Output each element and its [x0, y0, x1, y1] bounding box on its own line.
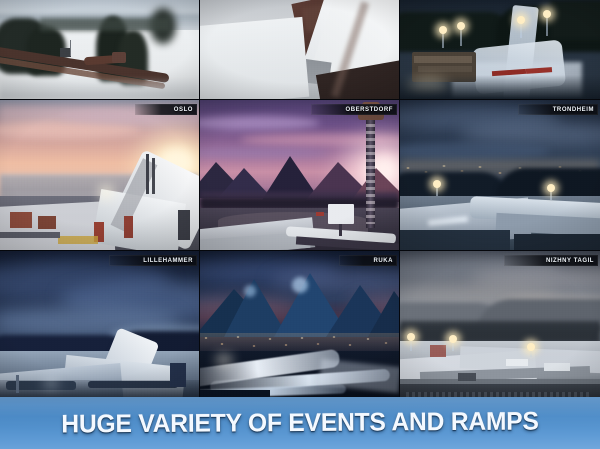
gallery-tile[interactable]	[400, 0, 600, 99]
promo-screenshot: OSLO	[0, 0, 600, 449]
tile-caption-label: RUKA	[373, 258, 393, 264]
tile-caption: NIZHNY TAGIL	[504, 255, 598, 266]
tile-caption-label: NIZHNY TAGIL	[546, 258, 594, 264]
tile-caption-label: OSLO	[174, 107, 193, 113]
tile-caption-label: TRONDHEIM	[553, 107, 594, 113]
tile-caption: OBERSTDORF	[311, 104, 397, 115]
gallery-tile[interactable]: OSLO	[0, 100, 199, 250]
tile-caption: OSLO	[135, 104, 197, 115]
gallery-tile[interactable]: RUKA	[200, 251, 399, 402]
gallery-tile[interactable]: OBERSTDORF	[200, 100, 399, 250]
tile-caption: LILLEHAMMER	[109, 255, 197, 266]
gallery-tile[interactable]: NIZHNY TAGIL	[400, 251, 600, 402]
gallery-tile[interactable]	[0, 0, 199, 99]
tile-caption-label: OBERSTDORF	[346, 107, 394, 113]
promo-banner: HUGE VARIETY OF EVENTS AND RAMPS	[0, 397, 600, 449]
tile-caption: RUKA	[339, 255, 397, 266]
tile-caption: TRONDHEIM	[518, 104, 598, 115]
promo-banner-text: HUGE VARIETY OF EVENTS AND RAMPS	[10, 397, 589, 449]
tile-caption-label: LILLEHAMMER	[143, 258, 193, 264]
gallery-tile[interactable]	[200, 0, 399, 99]
gallery-tile[interactable]: LILLEHAMMER	[0, 251, 199, 402]
venue-gallery-grid: OSLO	[0, 0, 600, 402]
gallery-tile[interactable]: TRONDHEIM	[400, 100, 600, 250]
